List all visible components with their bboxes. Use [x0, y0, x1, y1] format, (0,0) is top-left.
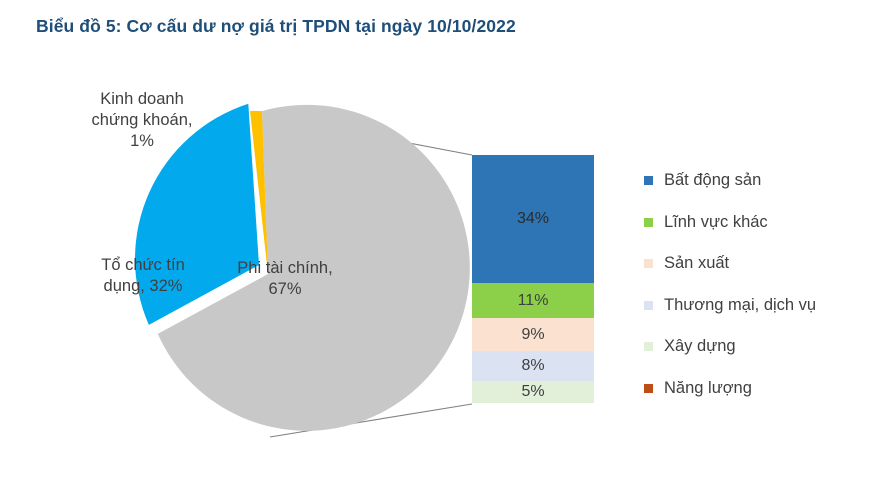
pie-label-to-chuc-tin-dung: Tổ chức tín dụng, 32% [78, 255, 208, 297]
legend-item-label: Bất động sản [664, 171, 761, 190]
bar-segment: 34% [472, 155, 594, 283]
pie-label-kinh-doanh-chung-khoan: Kinh doanh chứng khoán, 1% [62, 89, 222, 152]
bar-segment-value: 8% [521, 357, 544, 375]
legend-swatch-icon [644, 342, 653, 351]
legend-item-label: Sản xuất [664, 254, 729, 273]
chart-legend: Bất động sảnLĩnh vực khácSản xuấtThương … [644, 160, 869, 409]
legend-item[interactable]: Lĩnh vực khác [644, 202, 869, 244]
legend-swatch-icon [644, 176, 653, 185]
bar-segment-value: 9% [521, 326, 544, 344]
bar-segment-value: 34% [517, 210, 549, 228]
legend-swatch-icon [644, 301, 653, 310]
legend-item[interactable]: Bất động sản [644, 160, 869, 202]
chart-page: Biểu đồ 5: Cơ cấu dư nợ giá trị TPDN tại… [0, 0, 873, 477]
legend-item[interactable]: Thương mại, dịch vụ [644, 285, 869, 327]
bar-segment-value: 11% [518, 292, 549, 310]
bar-segment: 8% [472, 351, 594, 381]
legend-item-label: Lĩnh vực khác [664, 213, 768, 232]
figure-area: Kinh doanh chứng khoán, 1% Tổ chức tín d… [0, 0, 873, 477]
bar-segment: 5% [472, 381, 594, 403]
stacked-bar: 34%11%9%8%5% [472, 155, 594, 404]
legend-item-label: Năng lượng [664, 379, 752, 398]
bar-segment-value: 5% [521, 383, 544, 401]
pie-label-phi-tai-chinh: Phi tài chính, 67% [215, 258, 355, 300]
legend-item[interactable]: Xây dựng [644, 326, 869, 368]
legend-swatch-icon [644, 218, 653, 227]
legend-swatch-icon [644, 259, 653, 268]
bar-segment: 9% [472, 318, 594, 351]
legend-item-label: Xây dựng [664, 337, 736, 356]
legend-item[interactable]: Năng lượng [644, 368, 869, 410]
legend-swatch-icon [644, 384, 653, 393]
legend-item[interactable]: Sản xuất [644, 243, 869, 285]
legend-item-label: Thương mại, dịch vụ [664, 296, 816, 315]
bar-segment: 11% [472, 283, 594, 318]
